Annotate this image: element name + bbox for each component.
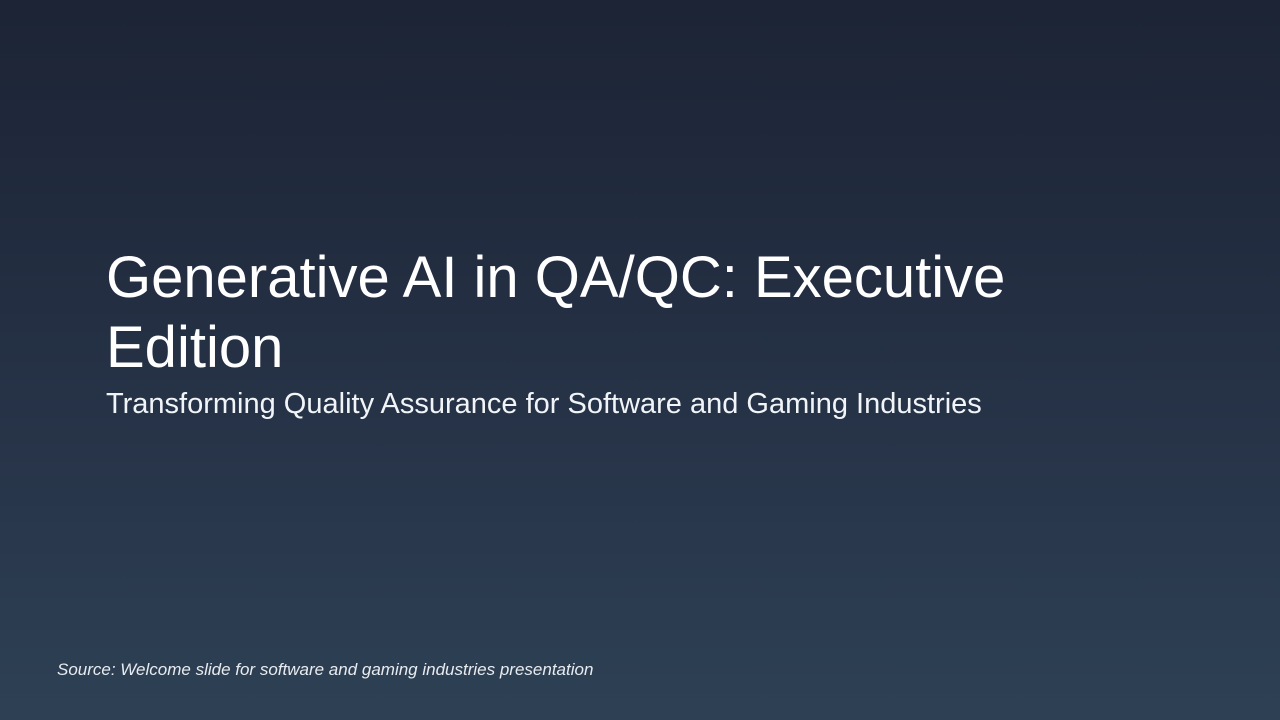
slide-title-block: Generative AI in QA/QC: Executive Editio… [106, 243, 1186, 423]
presentation-slide: Generative AI in QA/QC: Executive Editio… [0, 0, 1280, 720]
slide-source-footer: Source: Welcome slide for software and g… [57, 658, 593, 682]
page-title: Generative AI in QA/QC: Executive Editio… [106, 243, 1051, 383]
slide-subtitle: Transforming Quality Assurance for Softw… [106, 385, 1186, 423]
